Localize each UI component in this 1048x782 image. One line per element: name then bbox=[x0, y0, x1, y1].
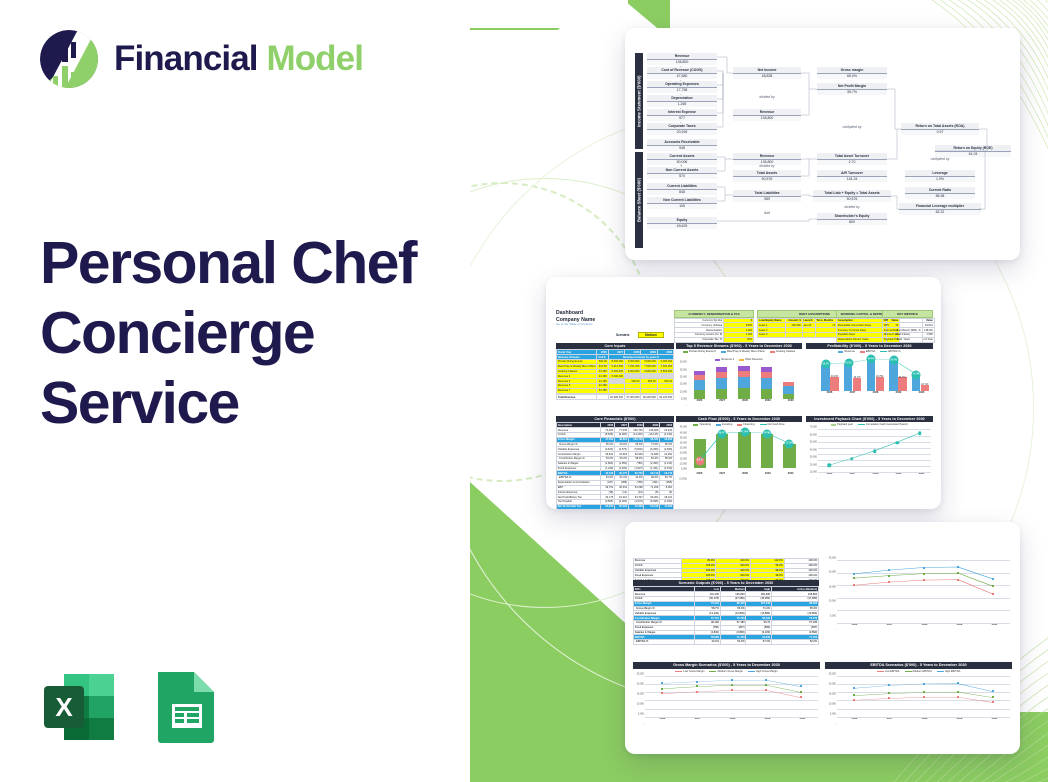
left-content-panel: Financial Model Personal Chef Concierge … bbox=[0, 0, 470, 782]
x-axis: 20262027202820292030 bbox=[818, 391, 933, 398]
core-financials-table: Description20262027202820292030Revenue74… bbox=[556, 422, 674, 509]
scenario-trend-chart: 25,00020,00015,00010,0005,000-2026202720… bbox=[825, 558, 1012, 633]
plot-area: 8,40040,01241,60440,09528,304 bbox=[688, 429, 800, 472]
dashboard-screenshot[interactable]: Dashboard Company Name Go to the Table o… bbox=[546, 277, 941, 509]
data-point bbox=[992, 593, 994, 595]
data-point bbox=[731, 689, 733, 691]
brand-name-part2: Model bbox=[266, 39, 363, 78]
data-point bbox=[696, 681, 698, 683]
data-point bbox=[731, 679, 733, 681]
bar-group bbox=[761, 367, 772, 399]
promo-banner: Financial Model Personal Chef Concierge … bbox=[0, 0, 1048, 782]
brand-logo[interactable]: Financial Model bbox=[38, 28, 363, 90]
data-point bbox=[661, 692, 663, 694]
data-point bbox=[888, 692, 890, 694]
top-revenue-streams-chart: Top 5 Revenue Streams ($'000) - 5 Years … bbox=[676, 343, 802, 411]
data-point bbox=[992, 690, 994, 692]
core-financials-panel: Core Financials ($'000) Description20262… bbox=[556, 416, 674, 509]
plot-area bbox=[645, 676, 818, 717]
data-point bbox=[895, 441, 899, 445]
chart-legend: Private Dining Events # Meal Prep & Week… bbox=[676, 349, 802, 362]
y-axis: 45,00040,00035,00030,00025,00020,00015,0… bbox=[676, 427, 688, 479]
data-point bbox=[696, 691, 698, 693]
data-point bbox=[853, 687, 855, 689]
data-point bbox=[828, 464, 832, 468]
x-axis: 20262027202820292030 bbox=[645, 717, 820, 724]
data-point bbox=[873, 449, 877, 453]
x-axis: 20262027202820292030 bbox=[837, 623, 1012, 630]
brand-name: Financial Model bbox=[114, 39, 363, 79]
data-point bbox=[853, 577, 855, 579]
y-axis: 70,00060,00050,00040,00030,00020,00010,0… bbox=[806, 427, 818, 479]
data-point bbox=[923, 573, 925, 575]
data-point bbox=[888, 575, 890, 577]
data-point bbox=[765, 679, 767, 681]
circle-bar-chart-logo-icon bbox=[38, 28, 100, 90]
ebitda-percent-line bbox=[818, 356, 931, 391]
data-point bbox=[992, 701, 994, 703]
data-point bbox=[957, 696, 959, 698]
svg-text:X: X bbox=[55, 692, 73, 722]
page-title: Personal Chef Concierge Service bbox=[40, 228, 420, 439]
scenario-screenshot[interactable]: Revenue80.0%100.0%110.0%100.0% COGS105.0… bbox=[625, 522, 1020, 754]
data-point bbox=[957, 572, 959, 574]
plot-area: 74,30040,19554.0%77,04039,17551.0%88,400… bbox=[818, 356, 931, 391]
scenario-lines bbox=[645, 676, 818, 717]
data-point bbox=[992, 585, 994, 587]
cash-flow-chart: Cash Flow ($'000) - 5 Years to December … bbox=[676, 416, 802, 482]
scenario-select[interactable]: Medium bbox=[638, 332, 664, 338]
data-point bbox=[853, 573, 855, 575]
x-axis: 20262027202820292030 bbox=[818, 472, 933, 479]
data-point bbox=[992, 696, 994, 698]
brand-name-part1: Financial bbox=[114, 39, 258, 78]
plot-area bbox=[837, 676, 1010, 717]
x-axis: 20262027202820292030 bbox=[837, 717, 1012, 724]
scenario-lines bbox=[837, 560, 1010, 623]
data-point bbox=[661, 682, 663, 684]
gross-margin-scenarios-chart: Gross Margin Scenarios ($'000) - 5 Years… bbox=[633, 662, 820, 726]
data-point bbox=[661, 688, 663, 690]
scenario-label: Scenario bbox=[616, 333, 629, 337]
currency-assumptions-panel: CURRENCY, DENOMINATION & TAX Currency Sy… bbox=[674, 310, 754, 343]
y-axis: 25,00020,00015,00010,0005,000- bbox=[825, 558, 837, 630]
x-axis: 20262027202820292030 bbox=[688, 472, 802, 479]
data-point bbox=[765, 684, 767, 686]
data-point bbox=[923, 683, 925, 685]
plot-area bbox=[688, 364, 800, 399]
scenario-outputs-panel: Scenario Outputs ($'000) - 5 Years to De… bbox=[633, 580, 819, 645]
data-point bbox=[957, 566, 959, 568]
bar-group bbox=[738, 366, 749, 400]
data-point bbox=[923, 579, 925, 581]
data-point bbox=[853, 699, 855, 701]
data-point bbox=[992, 578, 994, 580]
data-point bbox=[923, 691, 925, 693]
data-point bbox=[765, 689, 767, 691]
data-point bbox=[957, 691, 959, 693]
data-point bbox=[800, 691, 802, 693]
data-point bbox=[731, 684, 733, 686]
data-point bbox=[888, 581, 890, 583]
dupont-connectors bbox=[635, 53, 1013, 248]
table-of-contents-link[interactable]: Go to the Table of Contents bbox=[556, 322, 592, 326]
investment-payback-chart: Investment Payback Chart ($'000) - 5 Yea… bbox=[806, 416, 933, 482]
y-axis: 25,00020,00015,00010,0005,000- bbox=[825, 674, 837, 724]
data-point bbox=[888, 684, 890, 686]
dashboard-content: Dashboard Company Name Go to the Table o… bbox=[554, 310, 933, 482]
data-point bbox=[957, 579, 959, 581]
data-point bbox=[853, 694, 855, 696]
dupont-tree: Income Statement ($'000) Balance Sheet (… bbox=[635, 53, 1013, 248]
data-point bbox=[850, 457, 854, 461]
core-inputs-panel: Core Inputs Fiscal Year 2026 2027 2028 2… bbox=[556, 343, 674, 400]
data-point bbox=[800, 696, 802, 698]
bar-group bbox=[783, 382, 794, 399]
data-point bbox=[800, 685, 802, 687]
data-point bbox=[957, 682, 959, 684]
data-point bbox=[918, 432, 922, 436]
net-cash-flow-line bbox=[688, 429, 800, 472]
scenario-outputs-table: KPIsLowMediumHighActive (Medium)Revenue1… bbox=[633, 586, 819, 645]
scenario-content: Revenue80.0%100.0%110.0%100.0% COGS105.0… bbox=[633, 558, 1012, 726]
y-axis: 30,00025,00020,00015,00010,0005,000- bbox=[676, 362, 688, 406]
bar-group bbox=[716, 367, 727, 399]
dupont-analysis-screenshot[interactable]: Income Statement ($'000) Balance Sheet (… bbox=[625, 28, 1020, 260]
ebitda-scenarios-chart: EBITDA Scenarios ($'000) - 5 Years to De… bbox=[825, 662, 1012, 726]
x-axis: 20262027202820292030 bbox=[688, 399, 802, 406]
y-axis bbox=[806, 354, 818, 398]
plot-area bbox=[818, 429, 931, 472]
key-metrics-panel: KEY METRICS KPIValue NPV34,621 Internal … bbox=[882, 310, 933, 343]
y-axis: 25,00020,00015,00010,0005,000- bbox=[633, 674, 645, 724]
table-row: Total Revenue 22,500,000 27,000,000 28,4… bbox=[557, 395, 674, 400]
table-row: EBITDA %40.2%52.0%57.0%52.0% bbox=[634, 640, 819, 645]
data-point bbox=[923, 567, 925, 569]
bar-group bbox=[694, 371, 705, 400]
profitability-chart: Profitability ($'000) - 5 Years to Decem… bbox=[806, 343, 933, 411]
data-point bbox=[696, 685, 698, 687]
core-inputs-table: Fiscal Year 2026 2027 2028 2029 2030 Rev… bbox=[556, 349, 674, 400]
file-format-icons: X bbox=[38, 666, 220, 753]
google-sheets-icon[interactable] bbox=[148, 666, 220, 753]
plot-area bbox=[837, 560, 1010, 623]
microsoft-excel-icon[interactable]: X bbox=[38, 666, 120, 753]
data-point bbox=[923, 696, 925, 698]
data-point bbox=[853, 584, 855, 586]
data-point bbox=[888, 697, 890, 699]
data-point bbox=[888, 569, 890, 571]
